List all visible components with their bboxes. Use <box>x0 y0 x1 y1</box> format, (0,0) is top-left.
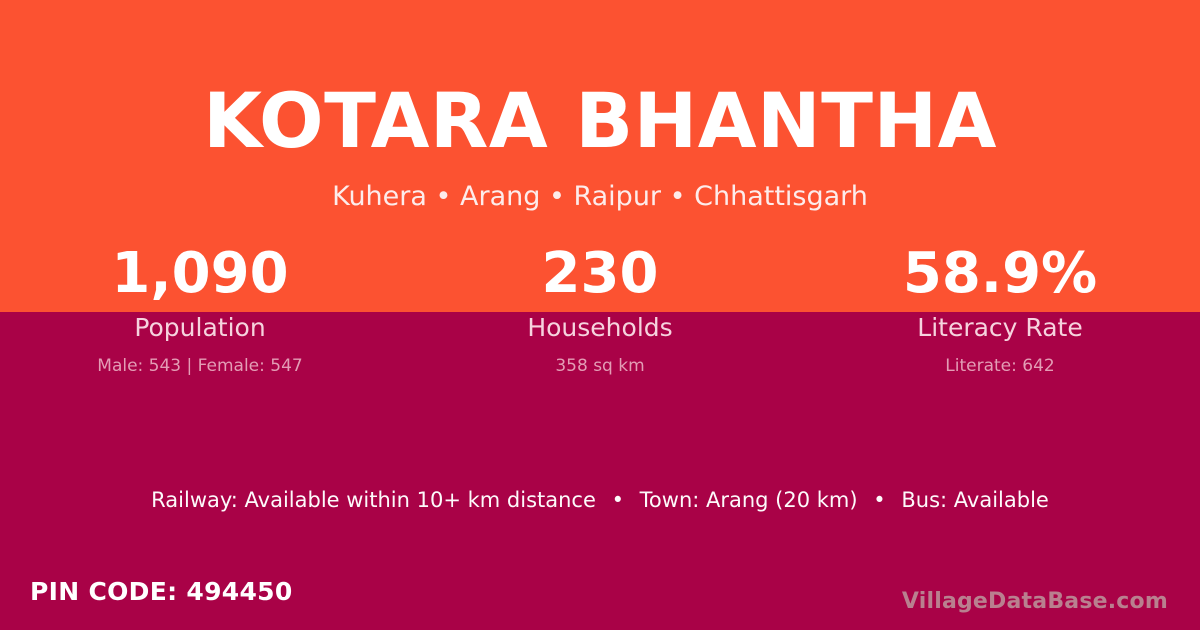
stats-row: 1,090 Population Male: 543 | Female: 547… <box>0 240 1200 378</box>
stat-households: 230 Households 358 sq km <box>400 240 800 378</box>
breadcrumb: Kuhera • Arang • Raipur • Chhattisgarh <box>0 183 1200 210</box>
stat-value: 230 <box>400 240 800 308</box>
stat-sublabel: Literate: 642 <box>800 354 1200 378</box>
site-branding: VillageDataBase.com <box>902 588 1168 616</box>
stat-sublabel: Male: 543 | Female: 547 <box>0 354 400 378</box>
stat-value: 1,090 <box>0 240 400 308</box>
stat-population: 1,090 Population Male: 543 | Female: 547 <box>0 240 400 378</box>
stat-label: Literacy Rate <box>800 311 1200 345</box>
amenity-town: Town: Arang (20 km) <box>640 488 858 512</box>
stat-label: Population <box>0 311 400 345</box>
bullet-separator-icon: • <box>864 487 894 513</box>
amenity-railway: Railway: Available within 10+ km distanc… <box>151 488 596 512</box>
stat-label: Households <box>400 311 800 345</box>
page-title: KOTARA BHANTHA <box>0 83 1200 159</box>
pin-code: PIN CODE: 494450 <box>30 576 293 608</box>
village-info-card: KOTARA BHANTHA Kuhera • Arang • Raipur •… <box>0 0 1200 630</box>
amenities-line: Railway: Available within 10+ km distanc… <box>0 487 1200 513</box>
stat-sublabel: 358 sq km <box>400 354 800 378</box>
bullet-separator-icon: • <box>603 487 633 513</box>
stat-value: 58.9% <box>800 240 1200 308</box>
amenity-bus: Bus: Available <box>901 488 1048 512</box>
stat-literacy-rate: 58.9% Literacy Rate Literate: 642 <box>800 240 1200 378</box>
